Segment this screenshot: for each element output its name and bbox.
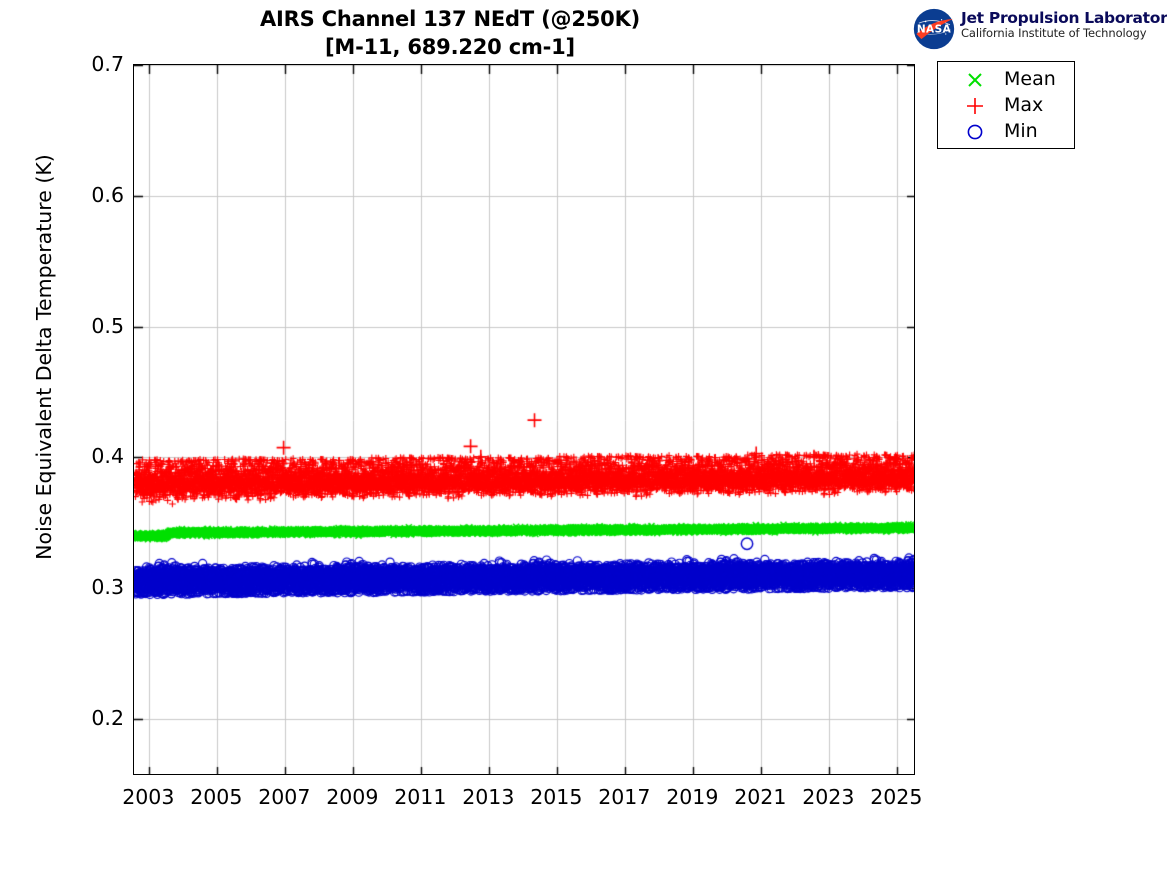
chart-title: AIRS Channel 137 NEdT (@250K) [M-11, 689… [0, 6, 900, 61]
y-tick-0.3: 0.3 [54, 577, 124, 598]
y-tick-0.6: 0.6 [54, 185, 124, 206]
x-axis-tick-labels: 2003200520072009201120132015201720192021… [0, 787, 1167, 827]
legend-entry-max: Max [938, 92, 1074, 119]
legend-label-mean: Mean [1004, 66, 1056, 93]
max-marker-icon [964, 92, 986, 119]
chart-title-line-1: AIRS Channel 137 NEdT (@250K) [0, 6, 900, 34]
legend-entry-mean: Mean [938, 66, 1074, 93]
y-tick-0.4: 0.4 [54, 446, 124, 467]
svg-text:NASA: NASA [917, 23, 952, 35]
y-tick-0.7: 0.7 [54, 54, 124, 75]
y-tick-0.5: 0.5 [54, 316, 124, 337]
mean-marker-icon [964, 66, 986, 93]
chart-title-line-2: [M-11, 689.220 cm-1] [0, 34, 900, 62]
y-axis-tick-labels: 0.20.30.40.50.60.7 [48, 0, 124, 875]
plot-area [133, 64, 915, 775]
legend-label-max: Max [1004, 92, 1043, 119]
jpl-organization: Jet Propulsion Laboratory [961, 10, 1161, 27]
jpl-institution: California Institute of Technology [961, 27, 1161, 41]
scatter-plot-canvas [134, 65, 915, 775]
y-tick-0.2: 0.2 [54, 708, 124, 729]
x-tick-2025: 2025 [851, 787, 941, 808]
nasa-meatball-icon: NASA [913, 8, 955, 50]
jpl-text-block: Jet Propulsion Laboratory California Ins… [961, 10, 1161, 41]
chart-legend: Mean Max Min [937, 61, 1075, 149]
legend-label-min: Min [1004, 118, 1038, 145]
legend-entry-min: Min [938, 118, 1074, 145]
min-marker-icon [964, 118, 986, 145]
jpl-branding: NASA Jet Propulsion Laboratory Californi… [913, 6, 1163, 50]
